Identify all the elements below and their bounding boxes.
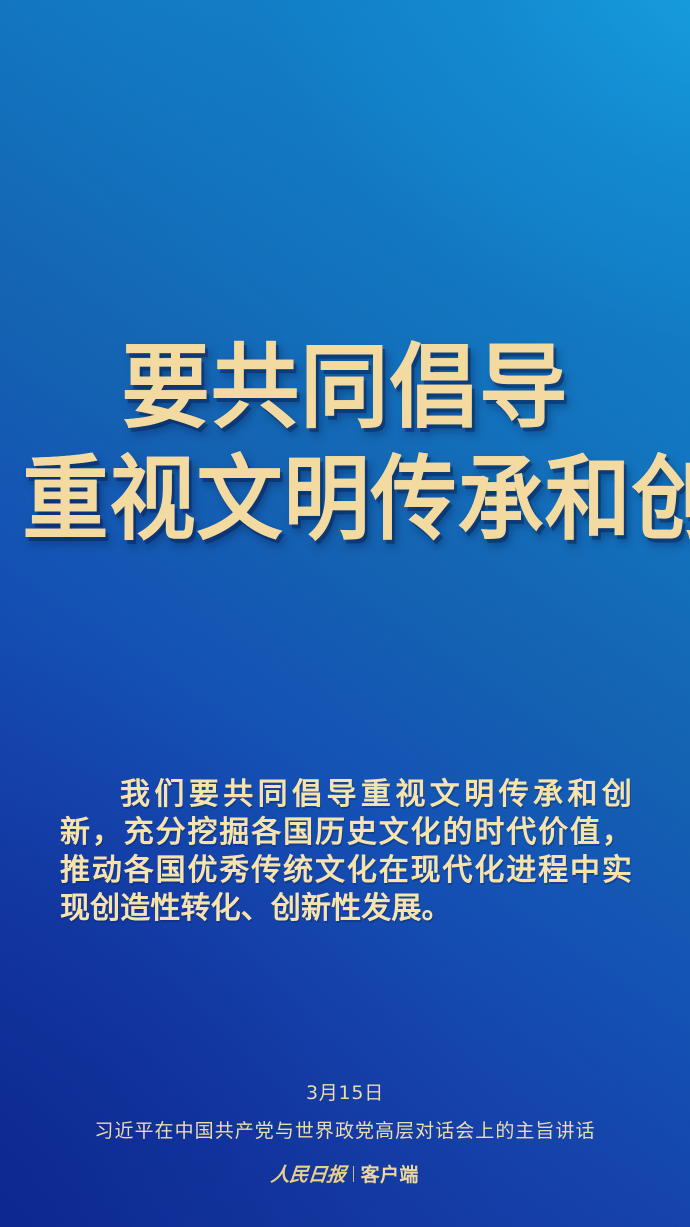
body-block: 我们要共同倡导重视文明传承和创新，充分挖掘各国历史文化的时代价值，推动各国优秀传… [60, 776, 632, 928]
footer-attribution: 习近平在中国共产党与世界政党高层对话会上的主旨讲话 [0, 1116, 690, 1146]
headline-line-2: 重视文明传承和创新 [22, 449, 667, 550]
peoples-daily-wordmark: 人民日报 [270, 1160, 347, 1187]
footer-date: 3月15日 [0, 1078, 690, 1108]
logo-client-label: 客户端 [361, 1160, 419, 1187]
logo-divider [353, 1166, 354, 1182]
footer: 3月15日 习近平在中国共产党与世界政党高层对话会上的主旨讲话 [0, 1078, 690, 1147]
peoples-daily-logo: 人民日报 客户端 [0, 1160, 690, 1187]
headline-line-1: 要共同倡导 [14, 338, 676, 437]
background-noise-texture [0, 0, 690, 1227]
body-paragraph: 我们要共同倡导重视文明传承和创新，充分挖掘各国历史文化的时代价值，推动各国优秀传… [60, 776, 632, 928]
headline: 要共同倡导 重视文明传承和创新 [0, 338, 690, 551]
poster-canvas: 要共同倡导 重视文明传承和创新 我们要共同倡导重视文明传承和创新，充分挖掘各国历… [0, 0, 690, 1227]
